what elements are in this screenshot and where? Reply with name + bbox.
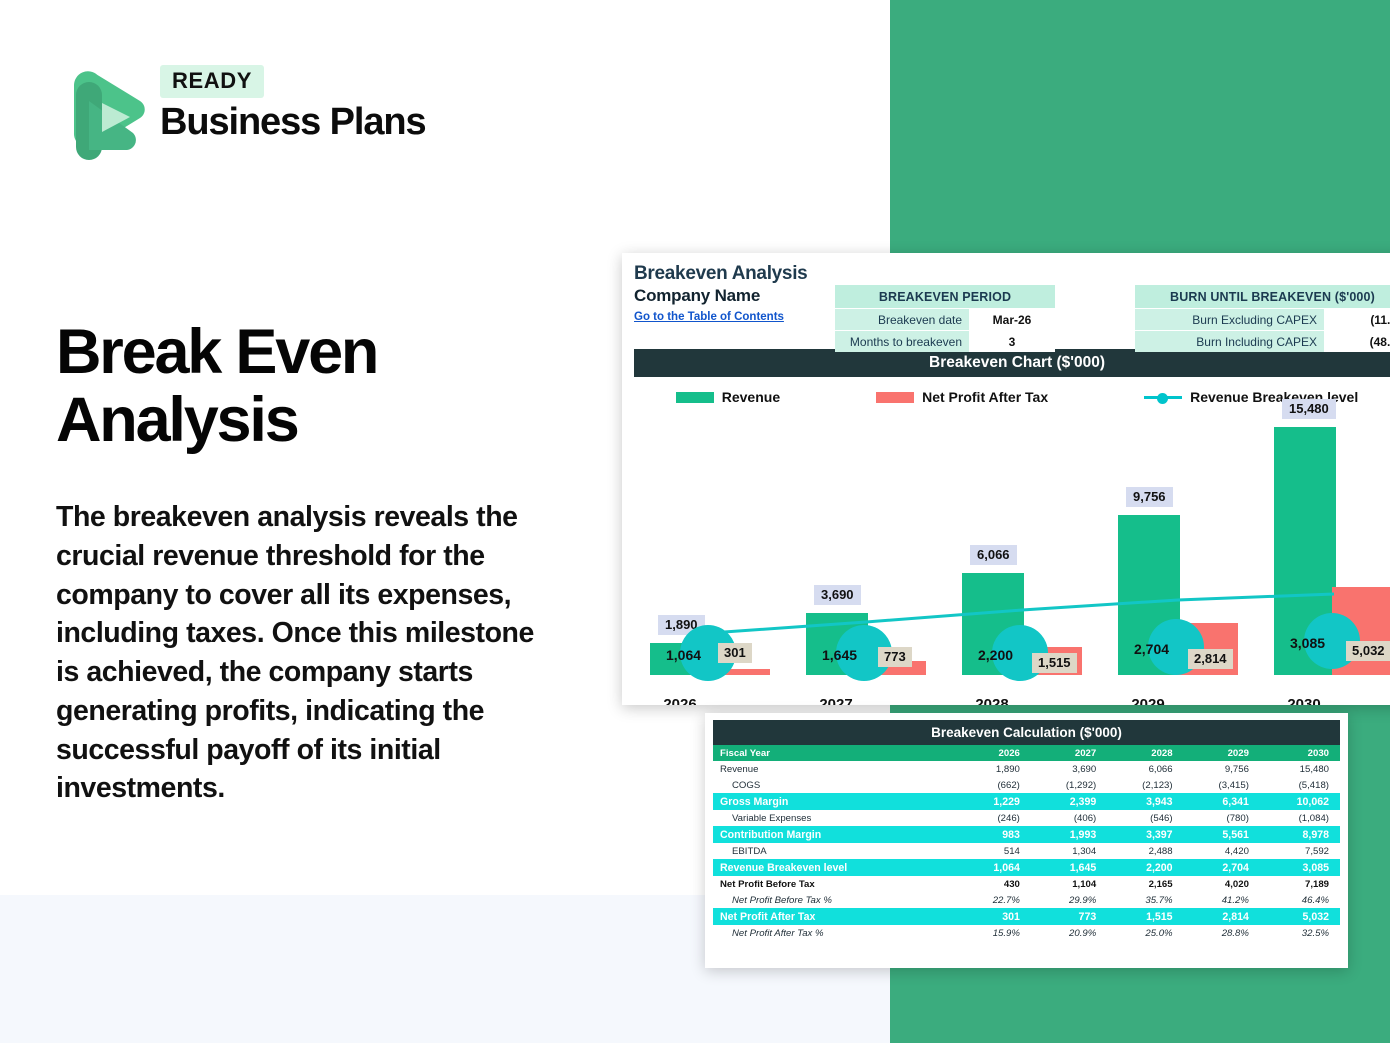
legend-label: Net Profit After Tax bbox=[922, 389, 1048, 405]
row-value: 5,032 bbox=[1260, 908, 1340, 925]
row-value: 1,304 bbox=[1031, 843, 1107, 859]
row-value: 6,066 bbox=[1107, 761, 1183, 777]
row-value: 3,397 bbox=[1107, 826, 1183, 843]
row-label: COGS bbox=[713, 777, 960, 793]
table-row: Net Profit Before Tax %22.7%29.9%35.7%41… bbox=[713, 892, 1340, 908]
column-header-2027: 2027 bbox=[1031, 745, 1107, 761]
row-value: 3,085 bbox=[1260, 859, 1340, 876]
bar-label-breakeven: 2,200 bbox=[978, 647, 1013, 663]
row-value: 1,229 bbox=[960, 793, 1030, 810]
breakeven-calculation-panel: Breakeven Calculation ($'000) Fiscal Yea… bbox=[705, 713, 1348, 968]
row-label: Variable Expenses bbox=[713, 810, 960, 826]
bar-label-net-profit-after-tax: 301 bbox=[718, 643, 752, 663]
kpi-row: Months to breakeven 3 bbox=[835, 331, 1055, 352]
months-to-breakeven-label: Months to breakeven bbox=[835, 331, 969, 352]
legend-swatch-icon bbox=[676, 392, 714, 403]
row-value: 6,341 bbox=[1184, 793, 1260, 810]
table-row: COGS(662)(1,292)(2,123)(3,415)(5,418) bbox=[713, 777, 1340, 793]
page-title-line1: Break Even bbox=[56, 317, 377, 387]
row-value: 10,062 bbox=[1260, 793, 1340, 810]
row-value: 41.2% bbox=[1184, 892, 1260, 908]
legend-line-marker-icon bbox=[1144, 392, 1182, 403]
row-value: 1,645 bbox=[1031, 859, 1107, 876]
kpi-row: Burn Excluding CAPEX (11.0) bbox=[1135, 309, 1390, 330]
row-value: 4,020 bbox=[1184, 876, 1260, 892]
bar-label-net-profit-after-tax: 773 bbox=[878, 647, 912, 667]
row-value: 430 bbox=[960, 876, 1030, 892]
row-value: 1,104 bbox=[1031, 876, 1107, 892]
legend-swatch-icon bbox=[876, 392, 914, 403]
table-row: Net Profit Before Tax4301,1042,1654,0207… bbox=[713, 876, 1340, 892]
bar-label-net-profit-after-tax: 1,515 bbox=[1032, 653, 1077, 673]
row-value: (5,418) bbox=[1260, 777, 1340, 793]
breakeven-date-label: Breakeven date bbox=[835, 309, 969, 330]
page-title: Break Even Analysis bbox=[56, 318, 551, 454]
table-row: Gross Margin1,2292,3993,9436,34110,062 bbox=[713, 793, 1340, 810]
table-of-contents-link[interactable]: Go to the Table of Contents bbox=[634, 311, 784, 323]
burn-including-capex-label: Burn Including CAPEX bbox=[1135, 331, 1324, 352]
bar-label-breakeven: 1,064 bbox=[666, 647, 701, 663]
row-value: 32.5% bbox=[1260, 925, 1340, 941]
brand-logo[interactable]: READY Business Plans bbox=[56, 55, 436, 170]
kpi-row: Burn Including CAPEX (48.5) bbox=[1135, 331, 1390, 352]
chart-legend: Revenue Net Profit After Tax Revenue Bre… bbox=[622, 377, 1390, 409]
row-value: 301 bbox=[960, 908, 1030, 925]
breakeven-period-heading: BREAKEVEN PERIOD bbox=[835, 285, 1055, 308]
row-value: 15,480 bbox=[1260, 761, 1340, 777]
row-value: (662) bbox=[960, 777, 1030, 793]
row-value: 3,943 bbox=[1107, 793, 1183, 810]
row-value: (780) bbox=[1184, 810, 1260, 826]
row-value: 2,200 bbox=[1107, 859, 1183, 876]
row-value: (2,123) bbox=[1107, 777, 1183, 793]
row-value: (546) bbox=[1107, 810, 1183, 826]
legend-item-revenue[interactable]: Revenue bbox=[676, 389, 780, 405]
brand-name: Business Plans bbox=[160, 103, 426, 141]
breakeven-period-card: BREAKEVEN PERIOD Breakeven date Mar-26 M… bbox=[835, 285, 1055, 352]
table-row: Net Profit After Tax %15.9%20.9%25.0%28.… bbox=[713, 925, 1340, 941]
hero-section: Break Even Analysis The breakeven analys… bbox=[56, 318, 551, 808]
breakeven-date-value[interactable]: Mar-26 bbox=[969, 309, 1055, 330]
row-value: 2,165 bbox=[1107, 876, 1183, 892]
row-value: 7,189 bbox=[1260, 876, 1340, 892]
row-value: (1,292) bbox=[1031, 777, 1107, 793]
column-header-2026: 2026 bbox=[960, 745, 1030, 761]
bar-label-breakeven: 1,645 bbox=[822, 647, 857, 663]
row-label: Revenue Breakeven level bbox=[713, 859, 960, 876]
burn-until-breakeven-card: BURN UNTIL BREAKEVEN ($'000) Burn Exclud… bbox=[1135, 285, 1390, 352]
row-value: 35.7% bbox=[1107, 892, 1183, 908]
row-value: 46.4% bbox=[1260, 892, 1340, 908]
row-label: Net Profit Before Tax bbox=[713, 876, 960, 892]
column-header-2030: 2030 bbox=[1260, 745, 1340, 761]
row-value: 1,890 bbox=[960, 761, 1030, 777]
row-value: 2,399 bbox=[1031, 793, 1107, 810]
row-value: (1,084) bbox=[1260, 810, 1340, 826]
chart-plot-area: 1,890 1,064 301 3,690 1,645 773 6,066 2,… bbox=[622, 411, 1390, 705]
table-row: Revenue Breakeven level1,0641,6452,2002,… bbox=[713, 859, 1340, 876]
row-value: 9,756 bbox=[1184, 761, 1260, 777]
table-row: Contribution Margin9831,9933,3975,5618,9… bbox=[713, 826, 1340, 843]
table-row: Net Profit After Tax3017731,5152,8145,03… bbox=[713, 908, 1340, 925]
bar-label-net-profit-after-tax: 5,032 bbox=[1346, 641, 1390, 661]
ready-badge: READY bbox=[160, 65, 264, 98]
row-value: 28.8% bbox=[1184, 925, 1260, 941]
row-label: Net Profit After Tax bbox=[713, 908, 960, 925]
sheet-title: Breakeven Analysis bbox=[634, 263, 1390, 285]
legend-label: Revenue bbox=[722, 389, 780, 405]
row-value: 773 bbox=[1031, 908, 1107, 925]
legend-item-net-profit-after-tax[interactable]: Net Profit After Tax bbox=[876, 389, 1048, 405]
row-label: Net Profit After Tax % bbox=[713, 925, 960, 941]
row-value: 20.9% bbox=[1031, 925, 1107, 941]
sheet-header: Breakeven Analysis Company Name Go to th… bbox=[622, 253, 1390, 349]
row-value: 983 bbox=[960, 826, 1030, 843]
row-value: 8,978 bbox=[1260, 826, 1340, 843]
row-value: 29.9% bbox=[1031, 892, 1107, 908]
kpi-row: Breakeven date Mar-26 bbox=[835, 309, 1055, 330]
column-header-fiscal-year: Fiscal Year bbox=[713, 745, 960, 761]
table-row: EBITDA5141,3042,4884,4207,592 bbox=[713, 843, 1340, 859]
burn-including-capex-value[interactable]: (48.5) bbox=[1324, 331, 1390, 352]
bar-label-net-profit-after-tax: 2,814 bbox=[1188, 649, 1233, 669]
table-row: Variable Expenses(246)(406)(546)(780)(1,… bbox=[713, 810, 1340, 826]
bar-label-breakeven: 3,085 bbox=[1290, 635, 1325, 651]
row-label: Revenue bbox=[713, 761, 960, 777]
row-value: 2,814 bbox=[1184, 908, 1260, 925]
months-to-breakeven-value[interactable]: 3 bbox=[969, 331, 1055, 352]
table-header-row: Fiscal Year 2026 2027 2028 2029 2030 bbox=[713, 745, 1340, 761]
breakeven-chart-panel: Breakeven Analysis Company Name Go to th… bbox=[622, 253, 1390, 705]
row-value: 4,420 bbox=[1184, 843, 1260, 859]
brand-wordmark: READY Business Plans bbox=[160, 65, 426, 141]
row-value: 7,592 bbox=[1260, 843, 1340, 859]
burn-heading: BURN UNTIL BREAKEVEN ($'000) bbox=[1135, 285, 1390, 308]
table-body: Revenue1,8903,6906,0669,75615,480COGS(66… bbox=[713, 761, 1340, 941]
chart-title: Breakeven Chart ($'000) bbox=[634, 349, 1390, 377]
row-value: 5,561 bbox=[1184, 826, 1260, 843]
column-header-2029: 2029 bbox=[1184, 745, 1260, 761]
row-value: 1,064 bbox=[960, 859, 1030, 876]
row-value: (246) bbox=[960, 810, 1030, 826]
row-value: 3,690 bbox=[1031, 761, 1107, 777]
burn-excluding-capex-value[interactable]: (11.0) bbox=[1324, 309, 1390, 330]
breakeven-calculation-table: Fiscal Year 2026 2027 2028 2029 2030 Rev… bbox=[713, 745, 1340, 941]
hero-description: The breakeven analysis reveals the cruci… bbox=[56, 498, 551, 808]
bar-label-breakeven: 2,704 bbox=[1134, 641, 1169, 657]
row-label: EBITDA bbox=[713, 843, 960, 859]
play-triangle-logo-icon bbox=[56, 55, 146, 160]
row-label: Gross Margin bbox=[713, 793, 960, 810]
row-label: Contribution Margin bbox=[713, 826, 960, 843]
row-value: 2,704 bbox=[1184, 859, 1260, 876]
row-value: 2,488 bbox=[1107, 843, 1183, 859]
row-value: 1,993 bbox=[1031, 826, 1107, 843]
table-title: Breakeven Calculation ($'000) bbox=[713, 720, 1340, 745]
row-value: 514 bbox=[960, 843, 1030, 859]
page-title-line2: Analysis bbox=[56, 385, 298, 455]
burn-excluding-capex-label: Burn Excluding CAPEX bbox=[1135, 309, 1324, 330]
row-value: (406) bbox=[1031, 810, 1107, 826]
row-value: 1,515 bbox=[1107, 908, 1183, 925]
row-label: Net Profit Before Tax % bbox=[713, 892, 960, 908]
table-row: Revenue1,8903,6906,0669,75615,480 bbox=[713, 761, 1340, 777]
column-header-2028: 2028 bbox=[1107, 745, 1183, 761]
row-value: (3,415) bbox=[1184, 777, 1260, 793]
row-value: 22.7% bbox=[960, 892, 1030, 908]
row-value: 25.0% bbox=[1107, 925, 1183, 941]
row-value: 15.9% bbox=[960, 925, 1030, 941]
